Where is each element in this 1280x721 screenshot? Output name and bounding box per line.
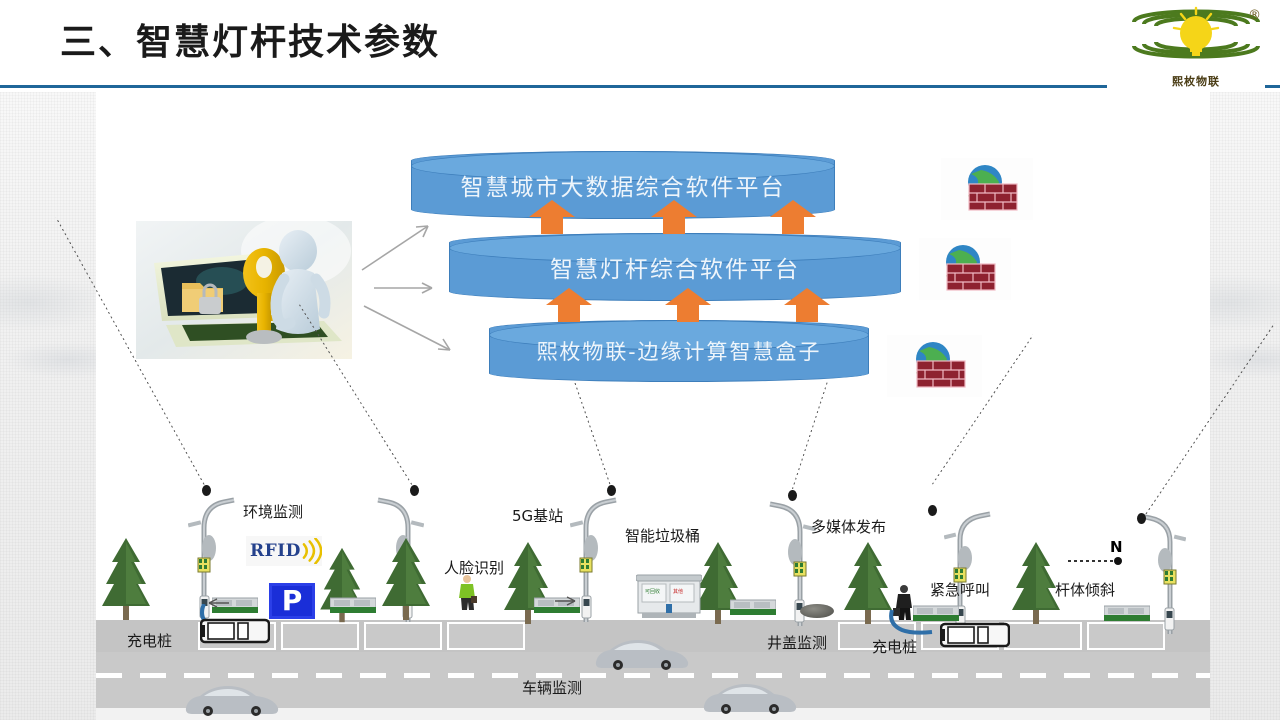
smart-trash-bin: 可回收 其他 (636, 571, 702, 619)
label-5g-base-station: 5G基站 (512, 505, 563, 526)
pointer-arrow-2 (553, 594, 579, 608)
svg-text:®: ® (1248, 8, 1261, 23)
tree (316, 546, 372, 632)
platform-cylinder-edge[interactable]: 熙枚物联-边缘计算智慧盒子 (489, 320, 869, 382)
label-emergency-call: 紧急呼叫 (930, 579, 990, 600)
parking-sign-letter: P (282, 587, 303, 615)
road-center-line (96, 673, 1210, 678)
manhole-cover (800, 604, 834, 618)
sensor-node-dot (1137, 513, 1146, 524)
car-side-view-3 (700, 680, 800, 714)
parking-space (447, 622, 525, 650)
parking-space (364, 622, 442, 650)
label-smart-trash-bin: 智能垃圾桶 (625, 525, 700, 546)
sensor-node-dot (788, 490, 797, 501)
roadside-cabinet (1104, 604, 1150, 620)
sensor-node-dot (607, 485, 616, 496)
up-arrow-5 (665, 288, 711, 322)
roadside-cabinet (730, 598, 776, 614)
label-face-recognition: 人脸识别 (444, 557, 504, 578)
background-texture-left (0, 0, 96, 720)
tilt-indicator-dot (1114, 557, 1122, 565)
label-environment-monitoring: 环境监测 (243, 501, 303, 522)
flow-arrow-to-pole (372, 278, 440, 303)
firewall-icon-1 (941, 158, 1033, 220)
company-logo: ® 熙枚物联 (1126, 2, 1266, 90)
rfid-badge: RFID (246, 536, 322, 566)
sensor-node-dot (410, 485, 419, 496)
label-charging-pile-right: 充电桩 (872, 636, 917, 657)
up-arrow-1 (529, 200, 575, 234)
platform-label-pole: 智慧灯杆综合软件平台 (450, 250, 900, 284)
tree (98, 536, 154, 622)
label-multimedia-publishing: 多媒体发布 (811, 516, 886, 537)
slide-header: 三、智慧灯杆技术参数 (0, 0, 1280, 92)
header-rule-right (1265, 85, 1280, 88)
rfid-wave-icon (301, 538, 322, 564)
tilt-indicator-line (1068, 560, 1116, 562)
background-texture-right (1210, 0, 1280, 720)
sensor-node-dot (202, 485, 211, 496)
pedestrian-face-recognition (456, 574, 478, 610)
roadside-cabinet (330, 596, 376, 612)
flow-arrow-to-edge (362, 302, 460, 363)
up-arrow-3 (770, 200, 816, 234)
car-top-view-charging-left (200, 618, 270, 644)
label-manhole-monitoring: 井盖监测 (767, 632, 827, 653)
sensor-node-dot (928, 505, 937, 516)
firewall-icon-3 (887, 335, 982, 397)
car-side-view-1 (592, 636, 692, 670)
svg-text:其他: 其他 (673, 588, 683, 595)
platform-label-city: 智慧城市大数据综合软件平台 (412, 168, 834, 202)
flow-arrow-to-city (360, 218, 438, 279)
logo-company-name: 熙枚物联 (1126, 73, 1266, 89)
firewall-icon-2 (919, 238, 1011, 300)
parking-sign: P (269, 583, 315, 619)
rfid-label: RFID (246, 541, 301, 561)
page-title: 三、智慧灯杆技术参数 (60, 20, 440, 65)
header-rule-left (0, 85, 1107, 88)
slide-root: 三、智慧灯杆技术参数 (0, 0, 1280, 720)
label-pole-tilt: 杆体倾斜 (1055, 579, 1115, 600)
tree (378, 536, 434, 622)
up-arrow-2 (651, 200, 697, 234)
label-charging-pile-left: 充电桩 (127, 630, 172, 651)
logo-mark-icon: ® (1126, 2, 1266, 78)
label-vehicle-monitoring: 车辆监测 (522, 677, 582, 698)
car-top-view-charging-right (940, 622, 1010, 648)
north-indicator-label: N (1110, 538, 1123, 556)
platform-label-edge: 熙枚物联-边缘计算智慧盒子 (490, 336, 868, 366)
parking-space (1004, 622, 1082, 650)
car-side-view-2 (182, 682, 282, 716)
svg-text:可回收: 可回收 (645, 588, 660, 595)
pointer-arrow-1 (205, 596, 231, 610)
up-arrow-6 (784, 288, 830, 322)
up-arrow-4 (546, 288, 592, 322)
